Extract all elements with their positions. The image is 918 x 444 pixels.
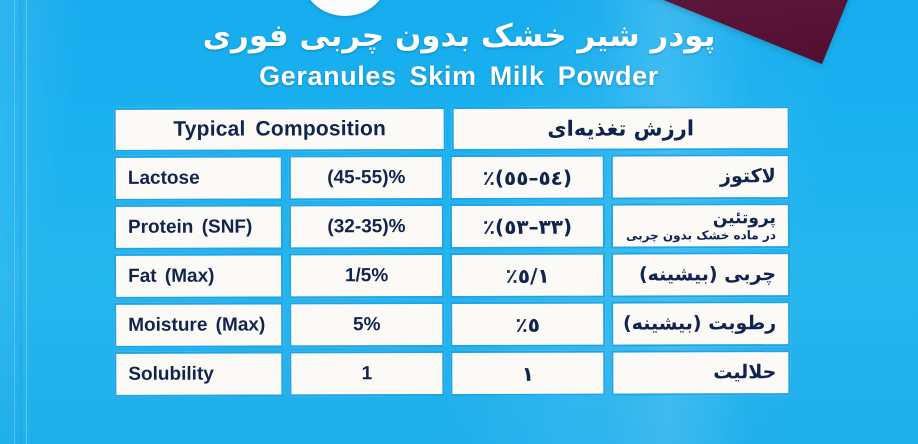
cell-fa-name: چربی (بیشینه)	[611, 252, 790, 297]
en-value-text: 1/5%	[345, 265, 388, 287]
cell-en-value: 1	[289, 351, 444, 396]
en-name-text: Moisture (Max)	[128, 314, 265, 336]
en-name-text: Protein (SNF)	[128, 216, 252, 238]
cell-fa-value: ١	[450, 351, 605, 396]
cell-en-value: 5%	[289, 302, 444, 347]
en-name-text: Solubility	[128, 363, 214, 385]
header-typical-composition: Typical Composition	[114, 107, 446, 152]
en-name-text: Fat (Max)	[128, 265, 214, 287]
product-title-block: پودر شیر خشک بدون چربی فوری Geranules Sk…	[0, 16, 918, 92]
table-row: Solubility 1 ١ حلالیت	[114, 350, 790, 397]
cell-en-value: (45-55)%	[289, 155, 444, 200]
fa-name-block: چربی (بیشینه)	[639, 264, 776, 286]
table-header-row: Typical Composition ارزش تغذیه‌ای	[114, 106, 790, 152]
en-value-text: 1	[362, 363, 373, 385]
fa-name-subtext: در ماده خشک بدون چربی	[626, 229, 776, 243]
cell-fa-name: پروتئین در ماده خشک بدون چربی	[611, 203, 790, 248]
fa-value-text: (٣٣–٣٥)٪	[483, 214, 572, 238]
fa-name-text: حلالیت	[713, 362, 776, 383]
product-title-persian: پودر شیر خشک بدون چربی فوری	[0, 16, 918, 56]
cell-fa-name: لاکتوز	[611, 154, 790, 199]
fa-name-block: پروتئین در ماده خشک بدون چربی	[626, 209, 776, 243]
fa-name-block: لاکتوز	[720, 166, 776, 187]
en-value-text: (45-55)%	[327, 167, 405, 189]
cell-en-name: Moisture (Max)	[114, 302, 283, 347]
nutrition-table: Typical Composition ارزش تغذیه‌ای Lactos…	[114, 106, 791, 387]
product-title-english: Geranules Skim Milk Powder	[0, 60, 918, 92]
fa-value-text: ١/٥٪	[506, 263, 550, 287]
cell-en-value: (32-35)%	[289, 204, 444, 249]
header-nutritional-value-persian: ارزش تغذیه‌ای	[452, 106, 790, 151]
fa-name-block: رطوبت (بیشینه)	[623, 313, 776, 335]
table-row: Moisture (Max) 5% ٥٪ رطوبت (بیشینه)	[114, 301, 790, 348]
product-package-panel: پودر شیر خشک بدون چربی فوری Geranules Sk…	[0, 0, 918, 444]
fa-value-text: (٤٥–٥٥)٪	[483, 165, 572, 189]
table-row: Lactose (45-55)% (٤٥–٥٥)٪ لاکتوز	[114, 154, 790, 201]
cell-fa-name: رطوبت (بیشینه)	[611, 301, 790, 346]
fa-value-text: ٥٪	[516, 312, 540, 336]
cell-fa-value: (٤٥–٥٥)٪	[450, 155, 605, 200]
cell-en-name: Solubility	[114, 351, 283, 396]
white-badge-shape	[303, 0, 387, 16]
cell-fa-value: ٥٪	[450, 302, 605, 347]
en-name-text: Lactose	[128, 167, 200, 189]
cell-en-name: Fat (Max)	[114, 253, 283, 298]
table-row: Fat (Max) 1/5% ١/٥٪ چربی (بیشینه)	[114, 252, 790, 299]
fa-name-text: چربی (بیشینه)	[639, 264, 776, 286]
cell-en-name: Lactose	[114, 155, 283, 200]
fa-value-text: ١	[522, 361, 534, 385]
en-value-text: 5%	[353, 314, 381, 336]
fa-name-text: رطوبت (بیشینه)	[623, 313, 776, 335]
cell-en-value: 1/5%	[289, 253, 444, 298]
cell-fa-value: (٣٣–٣٥)٪	[450, 204, 605, 249]
fa-name-block: حلالیت	[713, 362, 776, 383]
cell-fa-name: حلالیت	[611, 350, 790, 395]
fa-name-text: لاکتوز	[720, 166, 776, 187]
cell-fa-value: ١/٥٪	[450, 253, 605, 298]
table-row: Protein (SNF) (32-35)% (٣٣–٣٥)٪ پروتئین …	[114, 203, 790, 250]
fa-name-text: پروتئین	[626, 209, 776, 228]
en-value-text: (32-35)%	[327, 216, 405, 238]
cell-en-name: Protein (SNF)	[114, 204, 283, 249]
